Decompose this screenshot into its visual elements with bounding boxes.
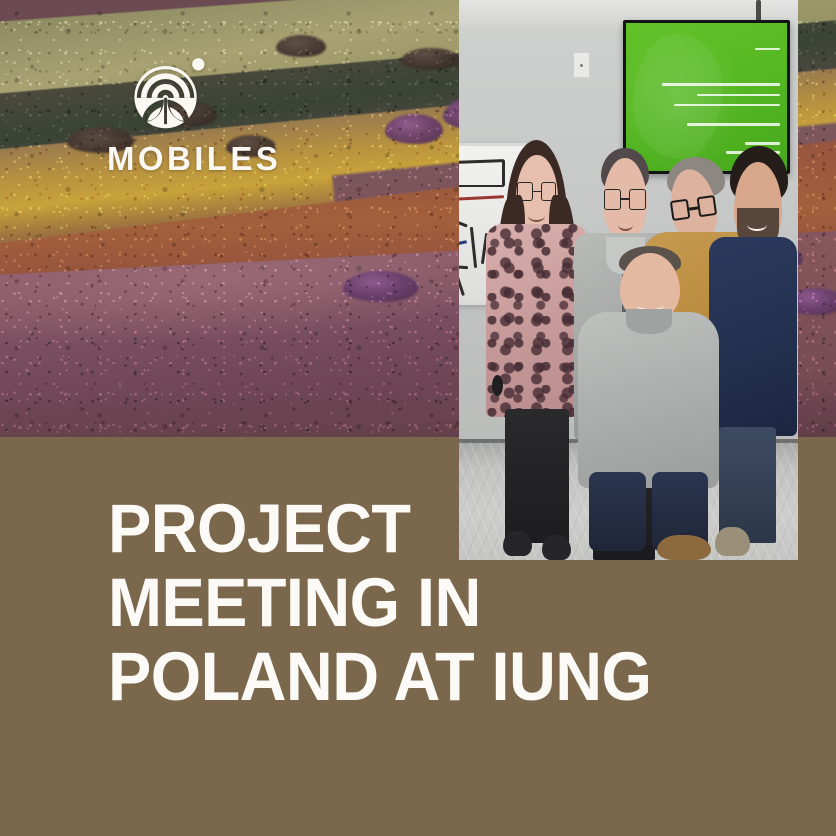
headline: PROJECT MEETING IN POLAND AT IUNG	[108, 492, 766, 713]
sweatshirt-collar	[626, 309, 672, 334]
slide-text-line	[697, 94, 780, 96]
slide-text-line	[745, 142, 780, 144]
slide-text-line	[755, 48, 781, 50]
wall-sensor-plate	[573, 52, 591, 78]
headline-line-3: POLAND AT IUNG	[108, 640, 766, 714]
whiteboard-mark	[459, 217, 468, 227]
brand-name: MOBILES	[107, 142, 337, 175]
brand-lockup: MOBILES	[107, 52, 337, 175]
logo-accent-dot	[192, 58, 204, 70]
whiteboard-mark	[459, 263, 468, 268]
slide-watermark-logo	[633, 34, 723, 158]
headline-line-1: PROJECT	[108, 492, 766, 566]
mobiles-logo-icon	[127, 52, 209, 134]
smile	[618, 218, 633, 230]
eyeglasses	[604, 189, 645, 210]
team-photo-inset	[459, 0, 798, 560]
social-media-poster: MOBILES	[0, 0, 836, 836]
grey-sweatshirt	[578, 312, 719, 488]
whiteboard-mark	[459, 240, 467, 248]
headline-line-2: MEETING IN	[108, 566, 766, 640]
slide-text-line	[687, 123, 780, 125]
slide-text-line	[662, 83, 780, 85]
whiteboard-mark	[459, 277, 464, 296]
wristwatch	[492, 375, 503, 396]
navy-sweater	[709, 237, 796, 436]
